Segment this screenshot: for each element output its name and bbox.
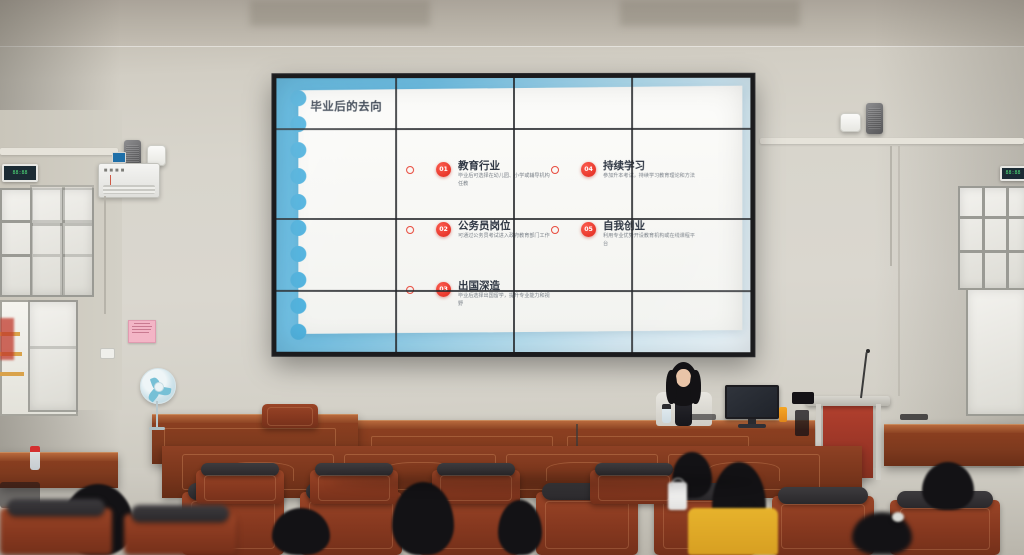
wall-notice (128, 320, 156, 343)
window-right-upper (958, 186, 1024, 290)
ceiling-band (0, 0, 1024, 46)
door-glass-left (28, 300, 78, 412)
clock-digits-left: 88:88 (12, 171, 27, 176)
video-wall-bezel-vertical (631, 78, 633, 352)
equipment-rack (795, 410, 809, 436)
lectern-equipment (792, 392, 814, 404)
floor-shadow (330, 474, 760, 490)
lectern-leg (876, 404, 881, 480)
marker-ring-icon (406, 226, 414, 234)
stage-chair (262, 404, 318, 428)
video-wall[interactable]: 毕业后的去向 01 教育行业 毕业后可选择在幼儿园、小学或辅导机构任教 02 公… (272, 74, 754, 357)
foreground-seat (124, 514, 236, 555)
wall-rail (0, 148, 118, 155)
clock-digits-right: 88:88 (1005, 171, 1020, 176)
wall-conduit (890, 146, 892, 266)
ceiling-patch (250, 0, 430, 26)
desk-flask (662, 404, 671, 423)
marker-ring-icon (406, 166, 414, 174)
hair-clip (892, 512, 904, 522)
corridor-poster (0, 318, 14, 360)
slide-item-heading: 自我创业 (603, 218, 645, 233)
control-lcd-screen (112, 152, 126, 163)
slide-item-body: 参加升本考试，持续学习教育理论和方法 (603, 173, 695, 181)
video-wall-screen[interactable]: 毕业后的去向 01 教育行业 毕业后可选择在幼儿园、小学或辅导机构任教 02 公… (276, 78, 750, 352)
speaker-icon (866, 103, 883, 134)
video-wall-bezel-horizontal (276, 218, 750, 220)
fan-cage (140, 368, 176, 404)
digital-clock-display: 88:88 (2, 164, 38, 182)
desk-monitor[interactable] (725, 385, 779, 419)
slide-item-heading: 持续学习 (603, 158, 645, 173)
foreground-seat (0, 508, 112, 555)
slide-item-badge: 02 (436, 222, 451, 237)
slide-item-heading: 教育行业 (458, 158, 500, 173)
ceiling-patch (620, 0, 800, 26)
audience-yellow-jacket (688, 508, 778, 555)
door-glass-right (966, 288, 1024, 416)
water-bottle (30, 446, 40, 470)
video-wall-bezel-vertical (395, 78, 396, 352)
video-wall-bezel-horizontal (276, 290, 750, 292)
slide-item-badge: 04 (581, 162, 596, 177)
side-table-right (884, 424, 1024, 466)
wall-conduit (898, 146, 900, 396)
wall-conduit (104, 196, 106, 314)
audience-seat-far (196, 470, 284, 504)
classroom-photo-scene: 88:88 ■■■■ 88:88 (0, 0, 1024, 555)
table-item (900, 414, 928, 420)
slide-title: 毕业后的去向 (310, 98, 382, 114)
presenter-face (676, 369, 691, 387)
slide-item-body: 毕业后选择出国留学，提升专业能力和视野 (458, 293, 550, 309)
wall-sensor-box (840, 113, 861, 132)
wall-trim-line (0, 46, 1024, 47)
slide-item-heading: 公务员岗位 (458, 218, 510, 233)
microphone-icon (866, 349, 870, 353)
wall-rail (760, 138, 1024, 144)
window-left-mid (30, 185, 94, 297)
presenter-hair-strand (690, 370, 701, 404)
slide-item-badge: 05 (581, 222, 596, 237)
digital-clock-display: 88:88 (1000, 166, 1024, 181)
power-socket (100, 348, 115, 359)
slide-item-body: 毕业后可选择在幼儿园、小学或辅导机构任教 (458, 173, 550, 189)
desk-papers (690, 414, 716, 420)
marker-ring-icon (551, 226, 559, 234)
slide-item-badge: 01 (436, 162, 451, 177)
video-wall-bezel-horizontal (276, 128, 750, 130)
stair-edge-strip (0, 372, 24, 376)
presenter-hair-strand (666, 370, 677, 404)
slide-item-body: 利用专业优势开设教育机构或在线课程平台 (603, 233, 695, 249)
video-wall-bezel-vertical (513, 78, 514, 352)
monitor-base (738, 424, 766, 428)
marker-ring-icon (551, 166, 559, 174)
air-conditioner-panel: ■■■■ (98, 163, 160, 198)
drink-cup (779, 407, 787, 422)
slide-item-body: 可通过公务员考试进入政府教育部门工作 (458, 233, 550, 241)
